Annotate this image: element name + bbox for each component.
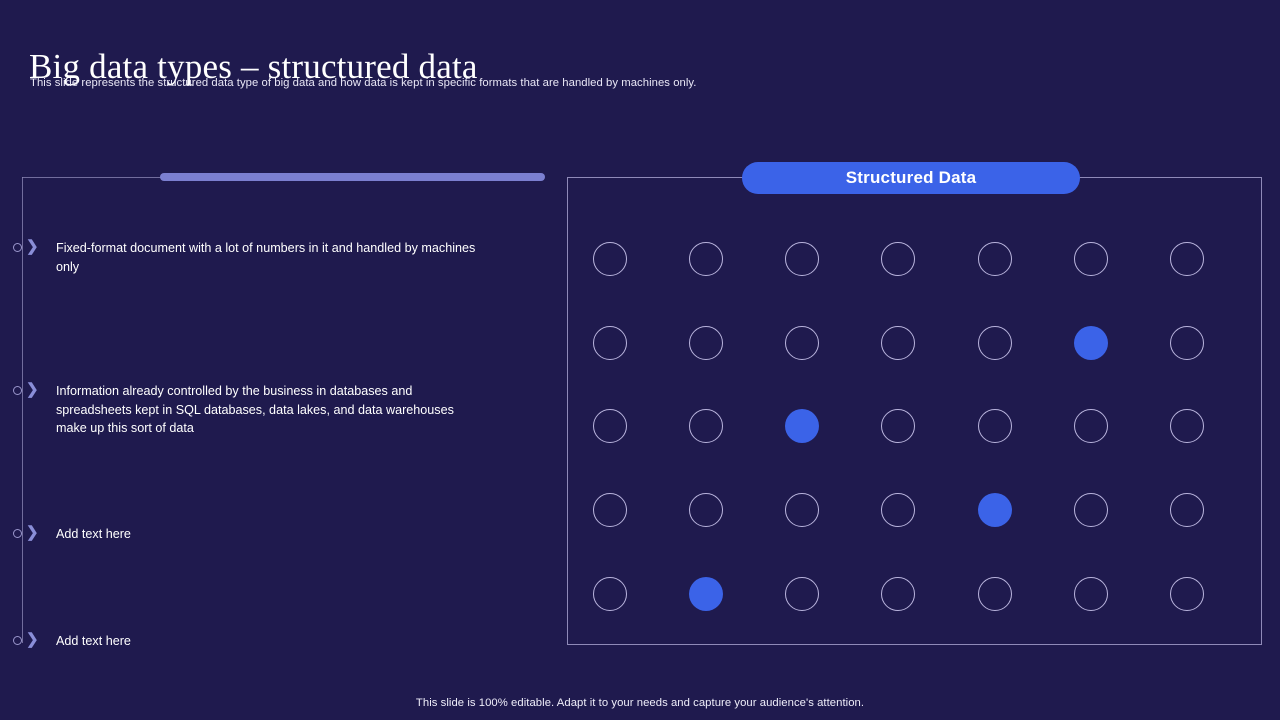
dot-empty[interactable] — [689, 242, 723, 276]
dot-empty[interactable] — [785, 326, 819, 360]
dot-empty[interactable] — [593, 242, 627, 276]
dot-filled[interactable] — [689, 577, 723, 611]
dot-empty[interactable] — [593, 577, 627, 611]
dot-empty[interactable] — [1170, 326, 1204, 360]
chevron-right-icon: ❯ — [26, 238, 39, 256]
bullet-item[interactable]: ❯Information already controlled by the b… — [13, 382, 486, 438]
chevron-right-icon: ❯ — [26, 524, 39, 542]
dot-empty[interactable] — [1074, 409, 1108, 443]
dot-empty[interactable] — [1170, 577, 1204, 611]
ring-chevron-icon: ❯ — [13, 383, 51, 401]
dot-empty[interactable] — [785, 577, 819, 611]
dot-empty[interactable] — [689, 493, 723, 527]
dot-empty[interactable] — [1170, 493, 1204, 527]
chevron-right-icon: ❯ — [26, 381, 39, 399]
ring-chevron-icon: ❯ — [13, 526, 51, 544]
ring-chevron-icon: ❯ — [13, 240, 51, 258]
dot-empty[interactable] — [978, 326, 1012, 360]
dot-filled[interactable] — [1074, 326, 1108, 360]
dot-empty[interactable] — [1170, 409, 1204, 443]
dot-empty[interactable] — [593, 326, 627, 360]
accent-bar — [160, 173, 545, 181]
dot-empty[interactable] — [785, 242, 819, 276]
dot-empty[interactable] — [881, 409, 915, 443]
page-subtitle: This slide represents the structured dat… — [30, 77, 696, 89]
dot-filled[interactable] — [785, 409, 819, 443]
dot-empty[interactable] — [593, 493, 627, 527]
dot-empty[interactable] — [1170, 242, 1204, 276]
dot-empty[interactable] — [881, 242, 915, 276]
dot-empty[interactable] — [785, 493, 819, 527]
bullet-item[interactable]: ❯Fixed-format document with a lot of num… — [13, 239, 486, 276]
ring-icon — [13, 529, 22, 538]
dot-grid — [567, 177, 1262, 645]
ring-chevron-icon: ❯ — [13, 633, 51, 651]
bullet-list-panel: ❯Fixed-format document with a lot of num… — [22, 177, 544, 645]
footer-note: This slide is 100% editable. Adapt it to… — [0, 697, 1280, 709]
dot-empty[interactable] — [689, 326, 723, 360]
ring-icon — [13, 243, 22, 252]
bullet-text: Information already controlled by the bu… — [56, 382, 486, 438]
dot-empty[interactable] — [978, 409, 1012, 443]
dot-filled[interactable] — [978, 493, 1012, 527]
dot-empty[interactable] — [1074, 242, 1108, 276]
bullet-item[interactable]: ❯Add text here — [13, 525, 486, 544]
dot-empty[interactable] — [689, 409, 723, 443]
dot-empty[interactable] — [881, 577, 915, 611]
dot-empty[interactable] — [978, 577, 1012, 611]
bullet-text: Add text here — [56, 632, 486, 651]
dot-empty[interactable] — [1074, 493, 1108, 527]
dot-empty[interactable] — [881, 326, 915, 360]
bullet-item[interactable]: ❯Add text here — [13, 632, 486, 651]
slide-canvas: Big data types – structured data This sl… — [0, 0, 1280, 720]
bullet-text: Fixed-format document with a lot of numb… — [56, 239, 486, 276]
chevron-right-icon: ❯ — [26, 631, 39, 649]
dot-empty[interactable] — [1074, 577, 1108, 611]
dot-empty[interactable] — [881, 493, 915, 527]
ring-icon — [13, 636, 22, 645]
ring-icon — [13, 386, 22, 395]
dot-empty[interactable] — [593, 409, 627, 443]
dot-empty[interactable] — [978, 242, 1012, 276]
bullet-text: Add text here — [56, 525, 486, 544]
